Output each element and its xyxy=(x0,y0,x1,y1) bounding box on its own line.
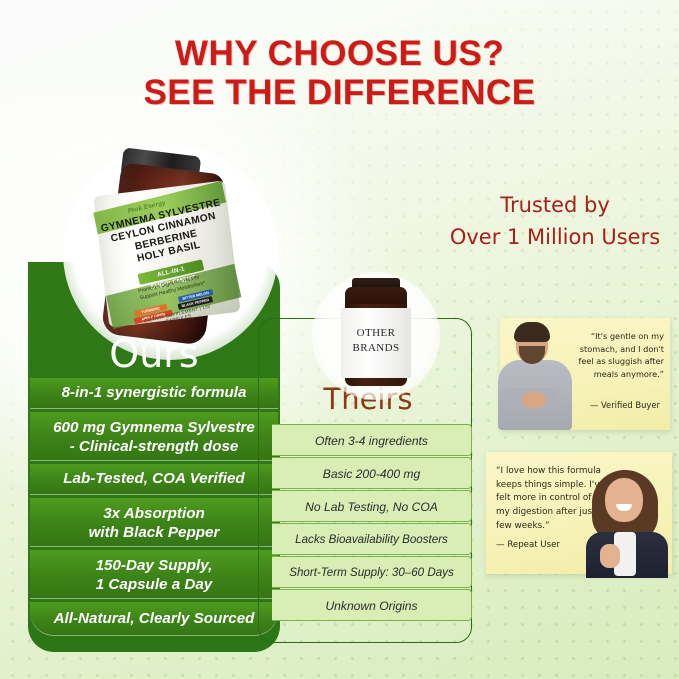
testimonial-2-author: — Repeat User xyxy=(496,540,560,550)
ours-row-2-text-a: 600 mg Gymnema Sylvestre xyxy=(53,419,255,436)
ours-row-1: 8-in-1 synergistic formula xyxy=(30,378,278,408)
other-brands-bottle: OTHER BRANDS xyxy=(330,278,422,390)
theirs-row-3: No Lab Testing, No COA xyxy=(272,490,472,522)
other-bottle-label-line-1: OTHER xyxy=(357,327,396,339)
testimonial-2-thumbs-up-hand xyxy=(600,544,620,568)
theirs-row-4: Lacks Bioavailability Boosters xyxy=(272,523,472,555)
ours-row-4-text-a: 3x Absorption xyxy=(103,505,205,522)
headline-line-2: SEE THE DIFFERENCE xyxy=(0,73,679,112)
testimonial-1-hair xyxy=(514,322,550,342)
ours-row-2: 600 mg Gymnema Sylvestre - Clinical-stre… xyxy=(30,412,278,460)
theirs-row-5-text: Short-Term Supply: 30–60 Days xyxy=(289,566,454,579)
ours-row-3-text: Lab-Tested, COA Verified xyxy=(63,470,244,487)
trusted-by-callout: Trusted by Over 1 Million Users xyxy=(432,190,678,253)
headline-line-1: WHY CHOOSE US? xyxy=(0,34,679,73)
our-product-bottle: Peak Energy GYMNEMA SYLVESTRE CEYLON CIN… xyxy=(95,152,243,357)
theirs-row-1-text: Often 3-4 ingredients xyxy=(315,434,428,448)
infographic-canvas: WHY CHOOSE US? SEE THE DIFFERENCE Truste… xyxy=(0,0,679,679)
theirs-feature-list: Often 3-4 ingredients Basic 200-400 mg N… xyxy=(272,424,472,621)
ours-row-5: 150-Day Supply, 1 Capsule a Day xyxy=(30,550,278,598)
testimonial-1-quote: “It's gentle on my stomach, and I don't … xyxy=(576,330,664,381)
ours-row-5-text-b: 1 Capsule a Day xyxy=(96,576,213,593)
theirs-row-5: Short-Term Supply: 30–60 Days xyxy=(272,556,472,588)
theirs-row-3-text: No Lab Testing, No COA xyxy=(305,500,438,514)
theirs-row-2-text: Basic 200-400 mg xyxy=(323,467,420,481)
ours-row-4-text-b: with Black Pepper xyxy=(89,524,220,541)
ours-row-6: All-Natural, Clearly Sourced xyxy=(30,602,278,635)
ours-row-1-text: 8-in-1 synergistic formula xyxy=(62,384,247,401)
testimonial-2-head xyxy=(605,478,643,522)
page-title: WHY CHOOSE US? SEE THE DIFFERENCE xyxy=(0,34,679,112)
testimonial-1-photo xyxy=(492,322,578,430)
ours-row-6-text: All-Natural, Clearly Sourced xyxy=(54,610,255,627)
testimonial-2-photo xyxy=(578,470,674,576)
ours-row-4: 3x Absorption with Black Pepper xyxy=(30,498,278,546)
other-bottle-label-text: OTHER BRANDS xyxy=(341,326,411,356)
theirs-row-1: Often 3-4 ingredients xyxy=(272,424,472,456)
theirs-row-2: Basic 200-400 mg xyxy=(272,457,472,489)
theirs-row-6-text: Unknown Origins xyxy=(325,599,417,613)
ours-row-5-text-a: 150-Day Supply, xyxy=(96,557,213,574)
theirs-row-6: Unknown Origins xyxy=(272,589,472,621)
testimonial-1-hand xyxy=(522,392,546,408)
trusted-by-line-1: Trusted by xyxy=(432,190,678,222)
bottle-label: Peak Energy GYMNEMA SYLVESTRE CEYLON CIN… xyxy=(91,178,242,329)
testimonial-1-author: — Verified Buyer xyxy=(590,400,660,410)
trusted-by-line-2: Over 1 Million Users xyxy=(432,222,678,254)
other-bottle-label-line-2: BRANDS xyxy=(352,342,399,354)
ours-row-2-text-b: - Clinical-strength dose xyxy=(70,438,239,455)
theirs-row-4-text: Lacks Bioavailability Boosters xyxy=(295,533,448,546)
ours-row-3: Lab-Tested, COA Verified xyxy=(30,464,278,494)
ours-feature-list: 8-in-1 synergistic formula 600 mg Gymnem… xyxy=(30,378,278,639)
